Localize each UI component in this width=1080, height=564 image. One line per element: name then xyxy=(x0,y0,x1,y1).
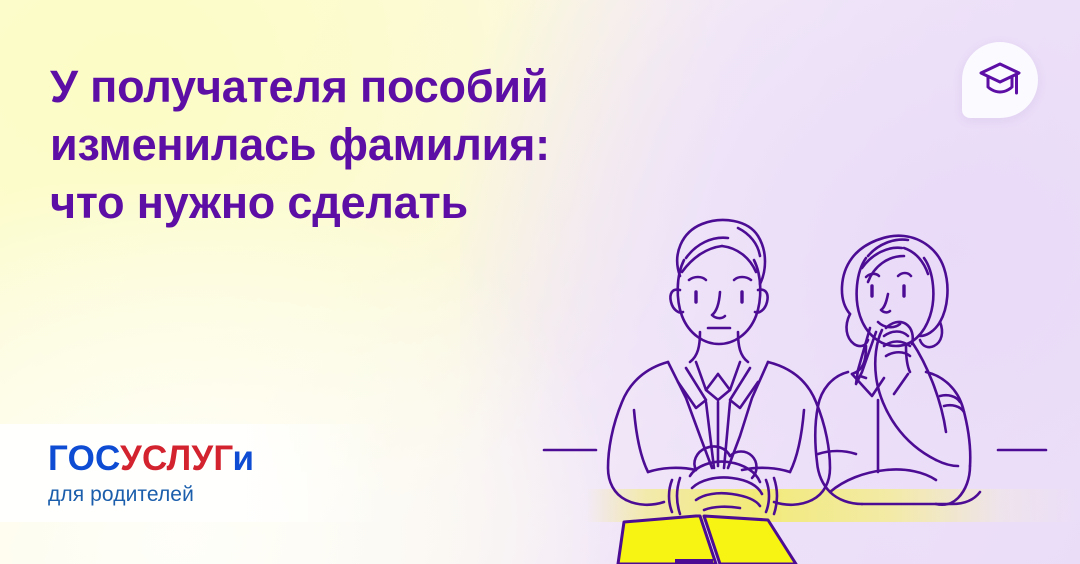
graduation-cap-badge xyxy=(962,42,1038,118)
man-in-suit xyxy=(608,220,830,514)
illustration-svg xyxy=(500,150,1080,564)
graduation-cap-icon xyxy=(978,61,1022,99)
two-people-at-desk-illustration xyxy=(500,150,1080,564)
logo-part-i: и xyxy=(233,439,255,478)
logo-tagline: для родителей xyxy=(48,483,254,507)
woman-with-pen xyxy=(815,236,980,505)
logo-part-gos: ГОС xyxy=(48,439,120,478)
yellow-documents xyxy=(618,516,796,564)
gosuslugi-logo[interactable]: ГОСУСЛУГи для родителей xyxy=(48,440,254,507)
logo-wordmark: ГОСУСЛУГи xyxy=(48,440,254,478)
gosuslugi-parents-banner: У получателя пособий изменилась фамилия:… xyxy=(0,0,1080,564)
logo-part-uslug: УСЛУГ xyxy=(120,439,232,478)
